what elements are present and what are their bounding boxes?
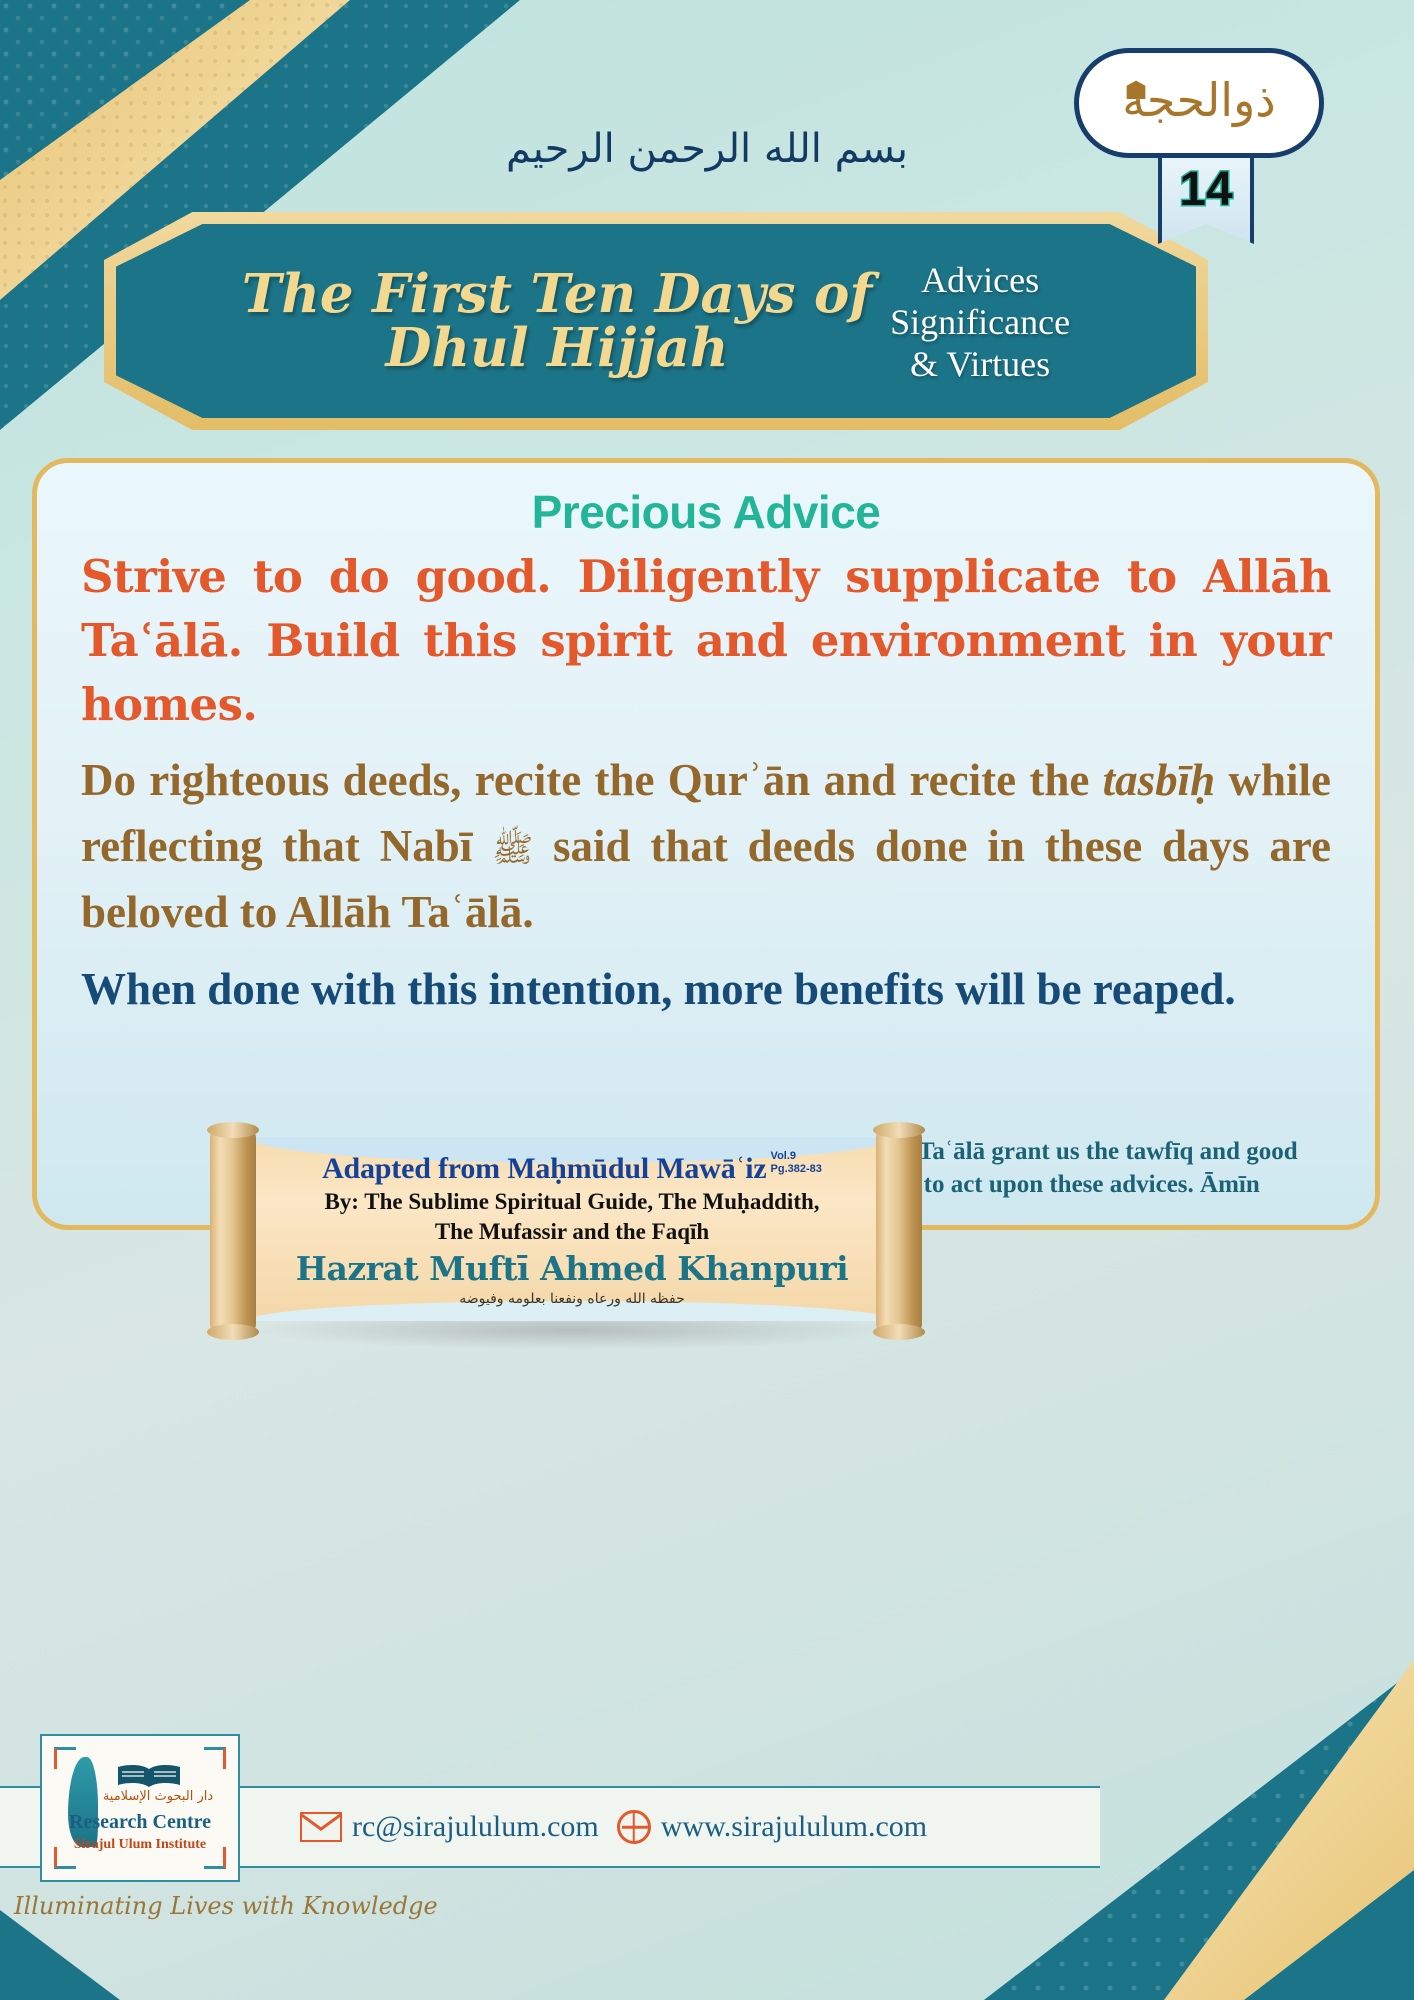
scroll-roller-left: [210, 1128, 256, 1334]
poster-canvas: ذوالحجة 14 بسم الله الرحمن الرحيم The Fi…: [0, 0, 1414, 2000]
organization-logo: دار البحوث الإسلامية Research Centre Sir…: [40, 1734, 240, 1882]
poster-title-line1: The First Ten Days of: [242, 263, 872, 325]
day-number: 14: [1179, 162, 1232, 217]
poster-title-line2: Dhul Hijjah: [242, 321, 872, 375]
month-badge-arabic-label: ذوالحجة: [1122, 77, 1276, 129]
source-pages: Pg.382-83: [771, 1163, 822, 1175]
logo-inner-frame: دار البحوث الإسلامية Research Centre Sir…: [52, 1745, 228, 1871]
email-address[interactable]: rc@sirajululum.com: [352, 1810, 599, 1844]
organization-tagline: Illuminating Lives with Knowledge: [14, 1892, 438, 1920]
envelope-icon: [300, 1812, 342, 1842]
advice-paragraph-orange: Strive to do good. Diligently supplicate…: [81, 545, 1331, 737]
website-contact[interactable]: www.sirajululum.com: [617, 1810, 927, 1844]
poster-subtitle-line2: Significance: [890, 302, 1070, 344]
author-dua: حفظه الله ورعاه ونفعنا بعلومه وفيوضه: [270, 1291, 874, 1307]
website-url[interactable]: www.sirajululum.com: [661, 1810, 927, 1844]
month-badge: ذوالحجة 14: [1074, 48, 1334, 158]
email-contact[interactable]: rc@sirajululum.com: [300, 1810, 599, 1844]
globe-icon: [617, 1810, 651, 1844]
contact-row: rc@sirajululum.com www.sirajululum.com: [300, 1810, 927, 1844]
open-book-icon: [116, 1763, 182, 1789]
scroll-roller-cap: [207, 1324, 259, 1340]
scroll-roller-cap: [873, 1324, 925, 1340]
poster-title: The First Ten Days of Dhul Hijjah: [242, 267, 890, 375]
scroll-roller-cap: [873, 1122, 925, 1138]
advice-paragraph-brown: Do righteous deeds, recite the Qurʾān an…: [81, 747, 1331, 945]
corner-decoration-bottom-left-teal: [0, 1910, 120, 2000]
scroll-content: Adapted from Maḥmūdul Mawāʿiz Vol.9 Pg.3…: [270, 1150, 874, 1307]
logo-title: Research Centre: [60, 1811, 220, 1834]
brown-text-a: Do righteous deeds, recite the Qurʾān an…: [81, 755, 1103, 805]
source-reference-row: Adapted from Maḥmūdul Mawāʿiz Vol.9 Pg.3…: [270, 1150, 874, 1186]
section-heading: Precious Advice: [81, 485, 1331, 539]
attribution-scroll: Adapted from Maḥmūdul Mawāʿiz Vol.9 Pg.3…: [196, 1128, 936, 1368]
content-card: Precious Advice Strive to do good. Dilig…: [32, 458, 1380, 1230]
author-byline-line2: The Mufassir and the Faqīh: [270, 1218, 874, 1246]
logo-corner-ornament: [54, 1747, 76, 1769]
scroll-roller-cap: [207, 1122, 259, 1138]
title-banner: The First Ten Days of Dhul Hijjah Advice…: [116, 224, 1196, 418]
logo-corner-ornament: [204, 1747, 226, 1769]
source-volume-pages: Vol.9 Pg.382-83: [771, 1150, 822, 1175]
poster-subtitle: Advices Significance & Virtues: [890, 260, 1070, 385]
poster-subtitle-line3: & Virtues: [890, 344, 1070, 386]
brown-text-tasbih: tasbīḥ: [1103, 755, 1216, 805]
source-title: Adapted from Maḥmūdul Mawāʿiz: [322, 1152, 766, 1185]
author-byline-line1: By: The Sublime Spiritual Guide, The Muḥ…: [270, 1188, 874, 1216]
author-name: Hazrat Muftī Ahmed Khanpuri: [270, 1249, 874, 1288]
logo-subtitle: Sirajul Ulum Institute: [60, 1837, 220, 1853]
month-badge-oval: ذوالحجة: [1074, 48, 1324, 158]
scroll-roller-right: [876, 1128, 922, 1334]
logo-arabic-name: دار البحوث الإسلامية: [98, 1789, 218, 1804]
advice-paragraph-navy: When done with this intention, more bene…: [81, 957, 1331, 1022]
sallallahu-alayhi-wasallam-glyph: ﷺ: [492, 830, 533, 870]
day-number-ribbon: 14: [1158, 152, 1254, 244]
source-volume: Vol.9: [771, 1150, 796, 1162]
poster-subtitle-line1: Advices: [890, 260, 1070, 302]
